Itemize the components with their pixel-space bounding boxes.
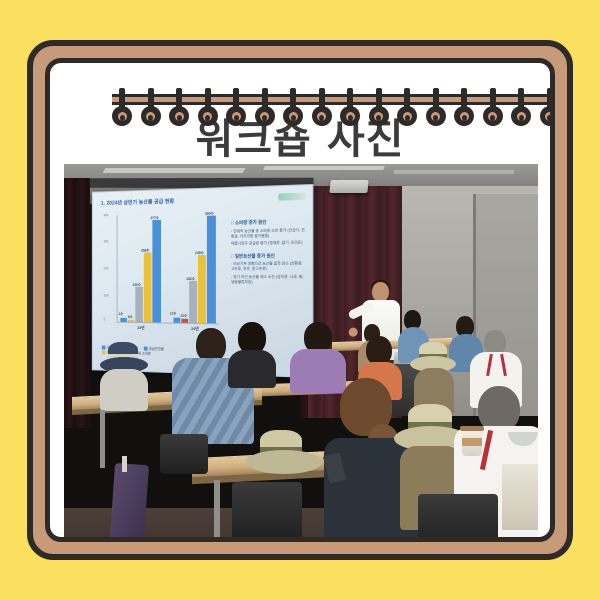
slide-title: 1. 2024년 상반기 농산물 공급 현황 [101, 198, 174, 207]
head [196, 328, 226, 362]
slide-bar-chart: 400 300 200 100 0 1수 5수 130수 [104, 210, 221, 343]
bar-label-23-2: 130수 [132, 282, 140, 287]
bar-23-series4 [152, 220, 161, 323]
chart-ytick: 100 [104, 294, 109, 298]
bar-23-series3 [144, 253, 152, 323]
spiral-bar [112, 94, 555, 105]
chart-ytick: 0 [104, 318, 106, 322]
bar-23-series0 [120, 318, 127, 322]
legend-swatch-icon [102, 350, 106, 354]
bar-24-series1 [181, 319, 188, 323]
bar-label-24-0: 17수 [170, 311, 177, 316]
hat-brim [246, 450, 322, 474]
ceiling-light-1 [103, 168, 246, 173]
slide-logo-icon [278, 193, 306, 201]
chart-ytick: 200 [104, 267, 109, 271]
chart-ytick: 300 [104, 239, 109, 243]
bar-24-series0 [174, 318, 181, 323]
slide-text-heading: □ 소비량 증가 원인 [231, 219, 306, 227]
bar-label-24-1: 12수 [180, 313, 187, 318]
bar-label-23-3: 258수 [141, 248, 149, 253]
notepad-paper: 워크숍 사진 1. 2024년 상반기 농산물 공급 현황 [45, 58, 555, 542]
notepad-card: 워크숍 사진 1. 2024년 상반기 농산물 공급 현황 [27, 40, 573, 560]
chair-back-1 [232, 482, 302, 542]
curtain-left [64, 178, 90, 428]
chair-back-2 [418, 494, 498, 542]
bar-label-23-1: 5수 [128, 314, 133, 319]
umbrella-handle [122, 456, 127, 472]
bar-23-series2 [135, 287, 143, 322]
coffee-cup-lid [460, 426, 484, 431]
slide-text-heading: □ 일반농산물 증가 원인 [231, 252, 306, 259]
bar-24-series2 [189, 281, 197, 323]
chart-group-label-23: 23년 [137, 326, 144, 331]
bar-23-series1 [128, 320, 135, 322]
slide-text-panel: □ 소비량 증가 원인 - 전체적 농산물 중 소비량 소비 증가 (건강식, … [231, 212, 306, 285]
chart-group-label-24: 24년 [191, 327, 199, 332]
desk-leg [100, 410, 105, 468]
bar-label-24-3: 245수 [195, 250, 204, 255]
coffee-cup-sleeve [462, 438, 482, 446]
bar-label-24-4: 390수 [205, 211, 214, 216]
umbrella [109, 463, 149, 542]
torso [100, 369, 148, 411]
slide-text-bullet: - 전체적 농산물 중 소비량 소비 증가 (건강식, 친환경, 차조리용 중가… [231, 227, 306, 239]
presenter-head [372, 282, 389, 302]
slide-text-bullet: 여름시장주 공급량 증가 (엽채류, 딸기, 토마토) [231, 241, 306, 247]
desk-leg [214, 480, 220, 542]
page-title: 워크숍 사진 [50, 105, 550, 165]
bar-label-24-2: 152수 [186, 276, 195, 281]
workshop-photo[interactable]: 1. 2024년 상반기 농산물 공급 현황 400 300 200 100 0 [64, 164, 538, 542]
bar-label-23-4: 377수 [150, 215, 158, 220]
paper-bag [502, 464, 538, 530]
slide-text-bullet: - 이상기후 영향으로 농산물 품목 감소 (친환경 고추류, 부추, 풋고추류… [231, 261, 306, 272]
ceiling-light-3 [394, 170, 515, 174]
projector [329, 180, 368, 193]
bar-24-series3 [198, 255, 206, 323]
chart-y-axis [117, 215, 118, 322]
ceiling-light-2 [263, 166, 384, 170]
slide-text-bullet: - 장기 보관 농산물 재고 소진 (감자류, 사과, 배, 냉동물류저장) [231, 275, 306, 286]
chair-back-3 [160, 434, 208, 474]
bar-label-23-0: 1수 [118, 311, 123, 316]
bar-24-series4 [207, 216, 216, 324]
torso [228, 350, 276, 388]
head [366, 336, 392, 365]
chart-ytick: 400 [104, 213, 109, 217]
torso [290, 349, 346, 393]
